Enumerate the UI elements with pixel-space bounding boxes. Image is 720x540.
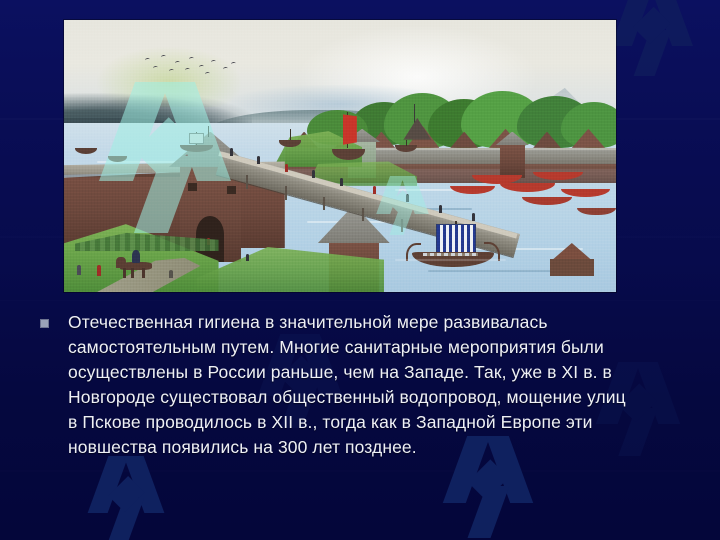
background-band xyxy=(0,300,720,301)
slide-illustration xyxy=(64,20,616,292)
watermark-logo xyxy=(612,0,692,78)
slide: Отечественная гигиена в значительной мер… xyxy=(0,0,720,540)
watermark-logo xyxy=(88,452,164,540)
paper-grain-overlay xyxy=(64,20,616,292)
square-bullet-icon xyxy=(40,319,49,328)
body-paragraph: Отечественная гигиена в значительной мер… xyxy=(68,310,628,460)
bullet-paragraph-row: Отечественная гигиена в значительной мер… xyxy=(40,310,660,460)
background-band xyxy=(0,470,720,472)
